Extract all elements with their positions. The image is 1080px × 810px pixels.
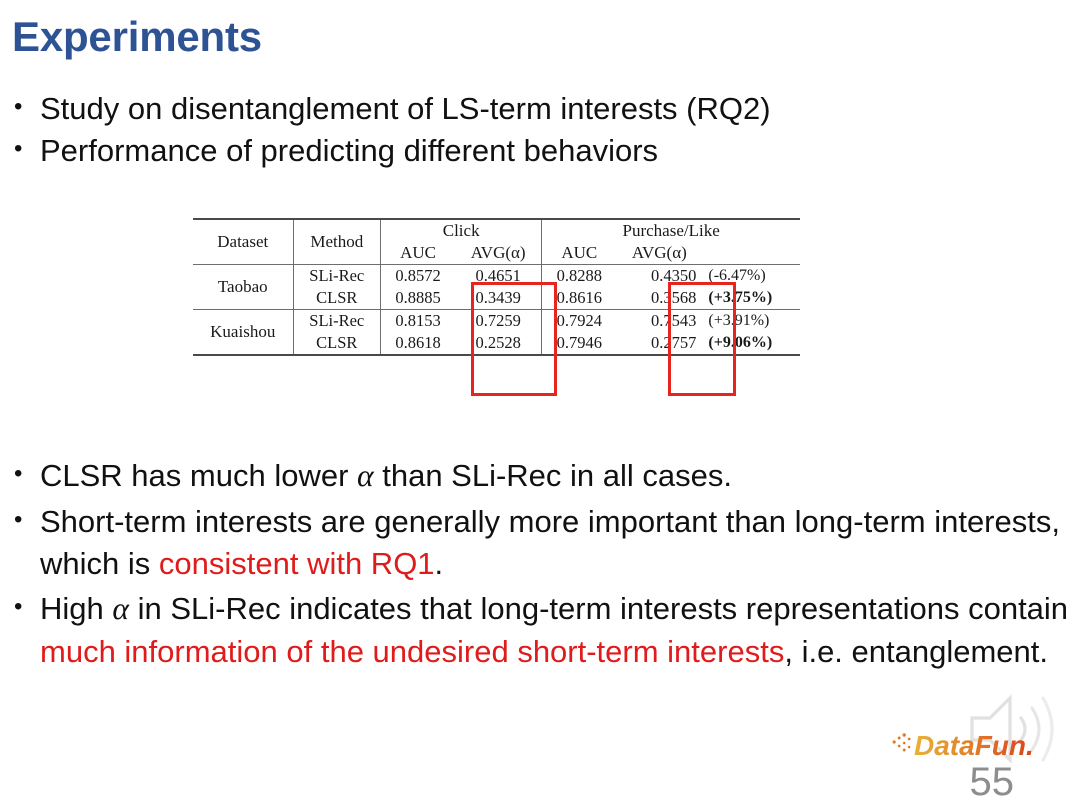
datafun-logo-text: DataFun. [914, 730, 1034, 761]
highlighted-text: much information of the undesired short-… [40, 634, 784, 669]
cell-click-avg-alpha: 0.7259 [455, 310, 542, 333]
rule-cell [616, 355, 702, 358]
bullet-item: •High α in SLi-Rec indicates that long-t… [14, 588, 1069, 672]
plain-text: CLSR has much lower [40, 458, 357, 493]
bullet-text: Performance of predicting different beha… [40, 130, 1054, 172]
col-header-purchase-avg-alpha: AVG(α) [616, 242, 702, 265]
rule-cell [455, 355, 542, 358]
table-bottom-rule [193, 355, 800, 358]
cell-method: SLi-Rec [293, 265, 381, 288]
datafun-logo: DataFun. [890, 726, 1040, 762]
cell-method: CLSR [293, 287, 381, 310]
cell-purchase-auc: 0.8288 [542, 265, 617, 288]
bullet-text: High α in SLi-Rec indicates that long-te… [40, 588, 1069, 672]
cell-click-avg-alpha: 0.4651 [455, 265, 542, 288]
rule-cell [381, 355, 456, 358]
rule-cell [702, 355, 800, 358]
plain-text: , i.e. entanglement. [784, 634, 1048, 669]
bullet-item: •Study on disentanglement of LS-term int… [14, 88, 1054, 130]
cell-dataset: Taobao [193, 265, 293, 310]
cell-method: SLi-Rec [293, 310, 381, 333]
col-header-delta [702, 242, 800, 265]
cell-click-auc: 0.8153 [381, 310, 456, 333]
cell-purchase-avg-alpha: 0.3568 [616, 287, 702, 310]
bullet-marker-icon: • [14, 501, 40, 540]
col-group-header-click: Click [381, 219, 542, 242]
bullet-text: Short-term interests are generally more … [40, 501, 1069, 584]
cell-purchase-avg-alpha: 0.4350 [616, 265, 702, 288]
cell-purchase-auc: 0.7946 [542, 332, 617, 355]
cell-click-avg-alpha: 0.2528 [455, 332, 542, 355]
col-group-header-purchase: Purchase/Like [542, 219, 800, 242]
footer-branding: DataFun. 55 [876, 684, 1066, 804]
cell-click-auc: 0.8885 [381, 287, 456, 310]
page-number: 55 [970, 762, 1015, 802]
table-header-row: DatasetMethodClickPurchase/Like [193, 219, 800, 242]
col-header-click-auc: AUC [381, 242, 456, 265]
top-bullet-list: •Study on disentanglement of LS-term int… [14, 88, 1054, 171]
results-table: DatasetMethodClickPurchase/LikeAUCAVG(α)… [193, 218, 800, 358]
cell-delta: (+9.06%) [702, 332, 800, 355]
results-table-container: DatasetMethodClickPurchase/LikeAUCAVG(α)… [193, 218, 800, 358]
cell-method: CLSR [293, 332, 381, 355]
plain-text: High [40, 591, 112, 626]
col-header-click-avg-alpha: AVG(α) [455, 242, 542, 265]
bullet-text: CLSR has much lower α than SLi-Rec in al… [40, 455, 1069, 497]
table-row: TaobaoSLi-Rec0.85720.46510.82880.4350(-6… [193, 265, 800, 288]
alpha-symbol: α [357, 458, 374, 493]
rule-cell [193, 355, 293, 358]
bullet-marker-icon: • [14, 88, 40, 127]
rule-cell [542, 355, 617, 358]
alpha-symbol: α [112, 591, 129, 626]
rule-cell [293, 355, 381, 358]
page-title: Experiments [12, 14, 262, 60]
bullet-item: •Short-term interests are generally more… [14, 501, 1069, 584]
bullet-marker-icon: • [14, 130, 40, 169]
bullet-marker-icon: • [14, 455, 40, 494]
cell-purchase-avg-alpha: 0.2757 [616, 332, 702, 355]
plain-text: . [435, 546, 444, 581]
bullet-item: •Performance of predicting different beh… [14, 130, 1054, 172]
cell-purchase-auc: 0.7924 [542, 310, 617, 333]
highlighted-text: consistent with RQ1 [159, 546, 435, 581]
col-header-dataset: Dataset [193, 219, 293, 265]
cell-click-auc: 0.8572 [381, 265, 456, 288]
table-row: KuaishouSLi-Rec0.81530.72590.79240.7543(… [193, 310, 800, 333]
col-header-purchase-auc: AUC [542, 242, 617, 265]
cell-delta: (+3.91%) [702, 310, 800, 333]
bullet-marker-icon: • [14, 588, 40, 627]
cell-dataset: Kuaishou [193, 310, 293, 356]
cell-click-avg-alpha: 0.3439 [455, 287, 542, 310]
cell-delta: (-6.47%) [702, 265, 800, 288]
cell-purchase-auc: 0.8616 [542, 287, 617, 310]
bottom-bullet-list: •CLSR has much lower α than SLi-Rec in a… [14, 455, 1069, 676]
plain-text: than SLi-Rec in all cases. [374, 458, 732, 493]
bullet-item: •CLSR has much lower α than SLi-Rec in a… [14, 455, 1069, 497]
plain-text: in SLi-Rec indicates that long-term inte… [129, 591, 1068, 626]
col-header-method: Method [293, 219, 381, 265]
cell-delta: (+3.75%) [702, 287, 800, 310]
bullet-text: Study on disentanglement of LS-term inte… [40, 88, 1054, 130]
cell-click-auc: 0.8618 [381, 332, 456, 355]
cell-purchase-avg-alpha: 0.7543 [616, 310, 702, 333]
